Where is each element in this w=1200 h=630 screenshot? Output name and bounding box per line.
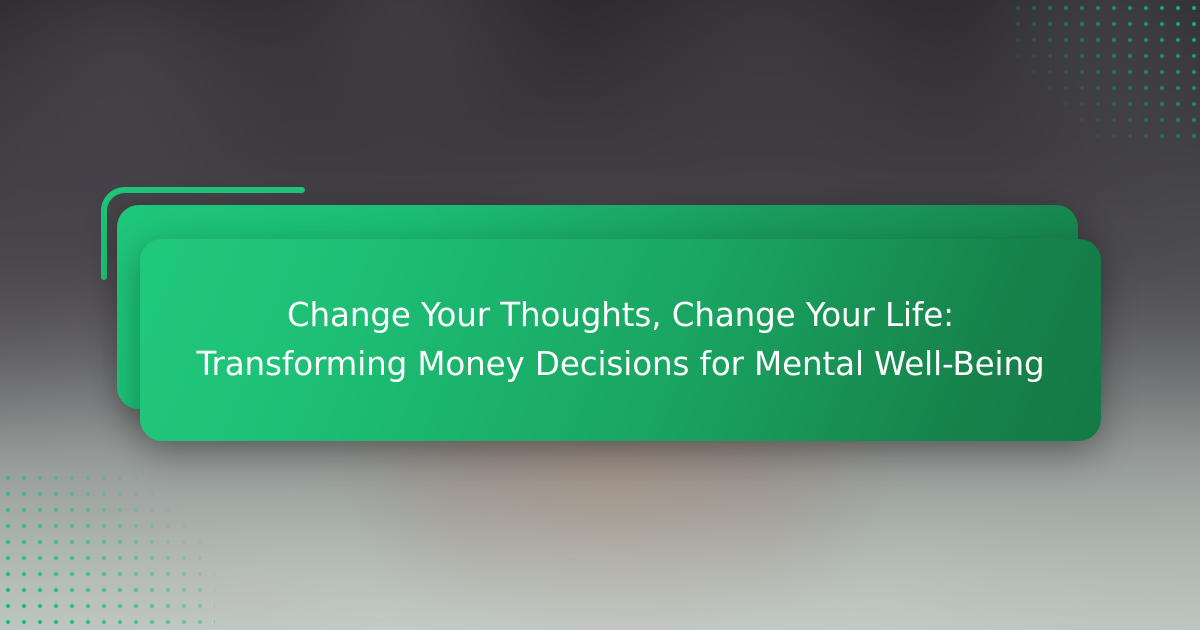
headline-block: Change Your Thoughts, Change Your Life: …	[140, 239, 1101, 441]
halftone-dots-bottom-left-icon	[0, 470, 215, 630]
halftone-dots-top-right-icon	[1010, 0, 1200, 140]
headline-line-1: Change Your Thoughts, Change Your Life:	[287, 297, 954, 334]
headline-line-2: Transforming Money Decisions for Mental …	[196, 346, 1044, 383]
social-share-card: Change Your Thoughts, Change Your Life: …	[0, 0, 1200, 630]
